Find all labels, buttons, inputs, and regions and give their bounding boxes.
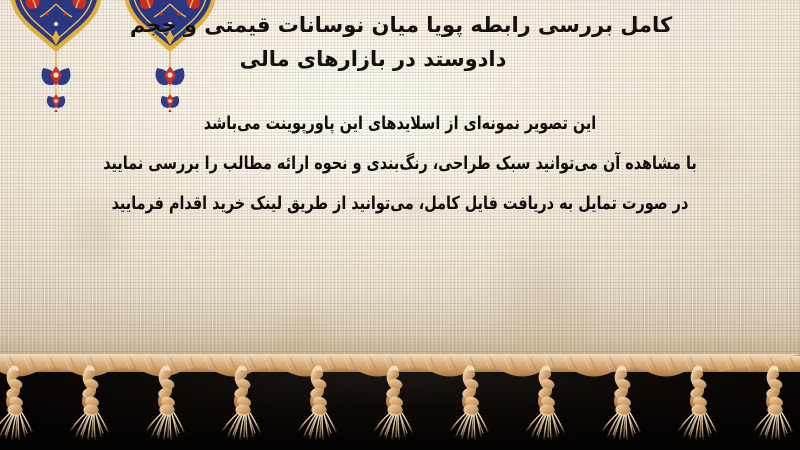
slide-body: این تصویر نمونه‌ای از اسلایدهای این پاور… <box>0 104 800 224</box>
body-line-3: در صورت تمایل به دریافت فایل کامل، می‌تو… <box>80 184 720 224</box>
slide-title: کامل بررسی رابطه پویا میان نوسانات قیمتی… <box>20 8 782 76</box>
black-lower-field <box>0 366 800 450</box>
title-line-1: کامل بررسی رابطه پویا میان نوسانات قیمتی… <box>20 8 782 42</box>
body-line-1: این تصویر نمونه‌ای از اسلایدهای این پاور… <box>80 104 720 144</box>
title-line-2: دادوستد در بازارهای مالی <box>20 42 726 76</box>
slide-canvas: کامل بررسی رابطه پویا میان نوسانات قیمتی… <box>0 0 800 450</box>
body-line-2: با مشاهده آن می‌توانید سبک طراحی، رنگ‌بن… <box>80 144 720 184</box>
text-layer: کامل بررسی رابطه پویا میان نوسانات قیمتی… <box>0 0 800 374</box>
